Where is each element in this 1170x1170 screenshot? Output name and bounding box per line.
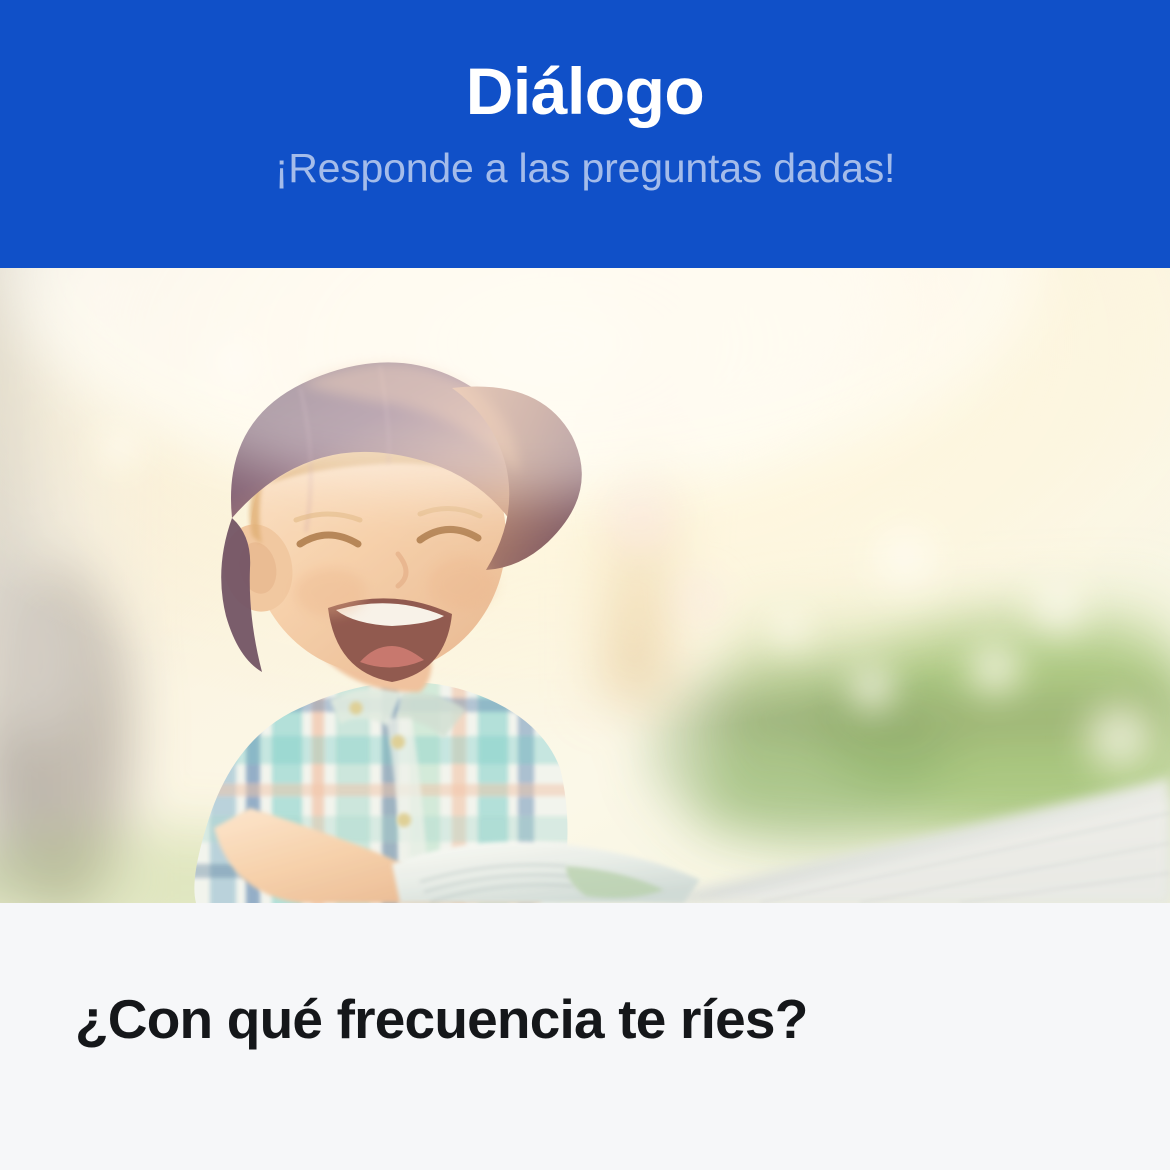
header-banner: Diálogo ¡Responde a las preguntas dadas! xyxy=(0,0,1170,268)
laughing-toddler-illustration xyxy=(0,268,1170,903)
question-panel: ¿Con qué frecuencia te ríes? xyxy=(0,903,1170,1170)
dialogo-card: Diálogo ¡Responde a las preguntas dadas! xyxy=(0,0,1170,1170)
lesson-photo xyxy=(0,268,1170,903)
page-title: Diálogo xyxy=(466,58,705,124)
page-subtitle: ¡Responde a las preguntas dadas! xyxy=(275,148,895,189)
question-prompt: ¿Con qué frecuencia te ríes? xyxy=(75,987,808,1052)
